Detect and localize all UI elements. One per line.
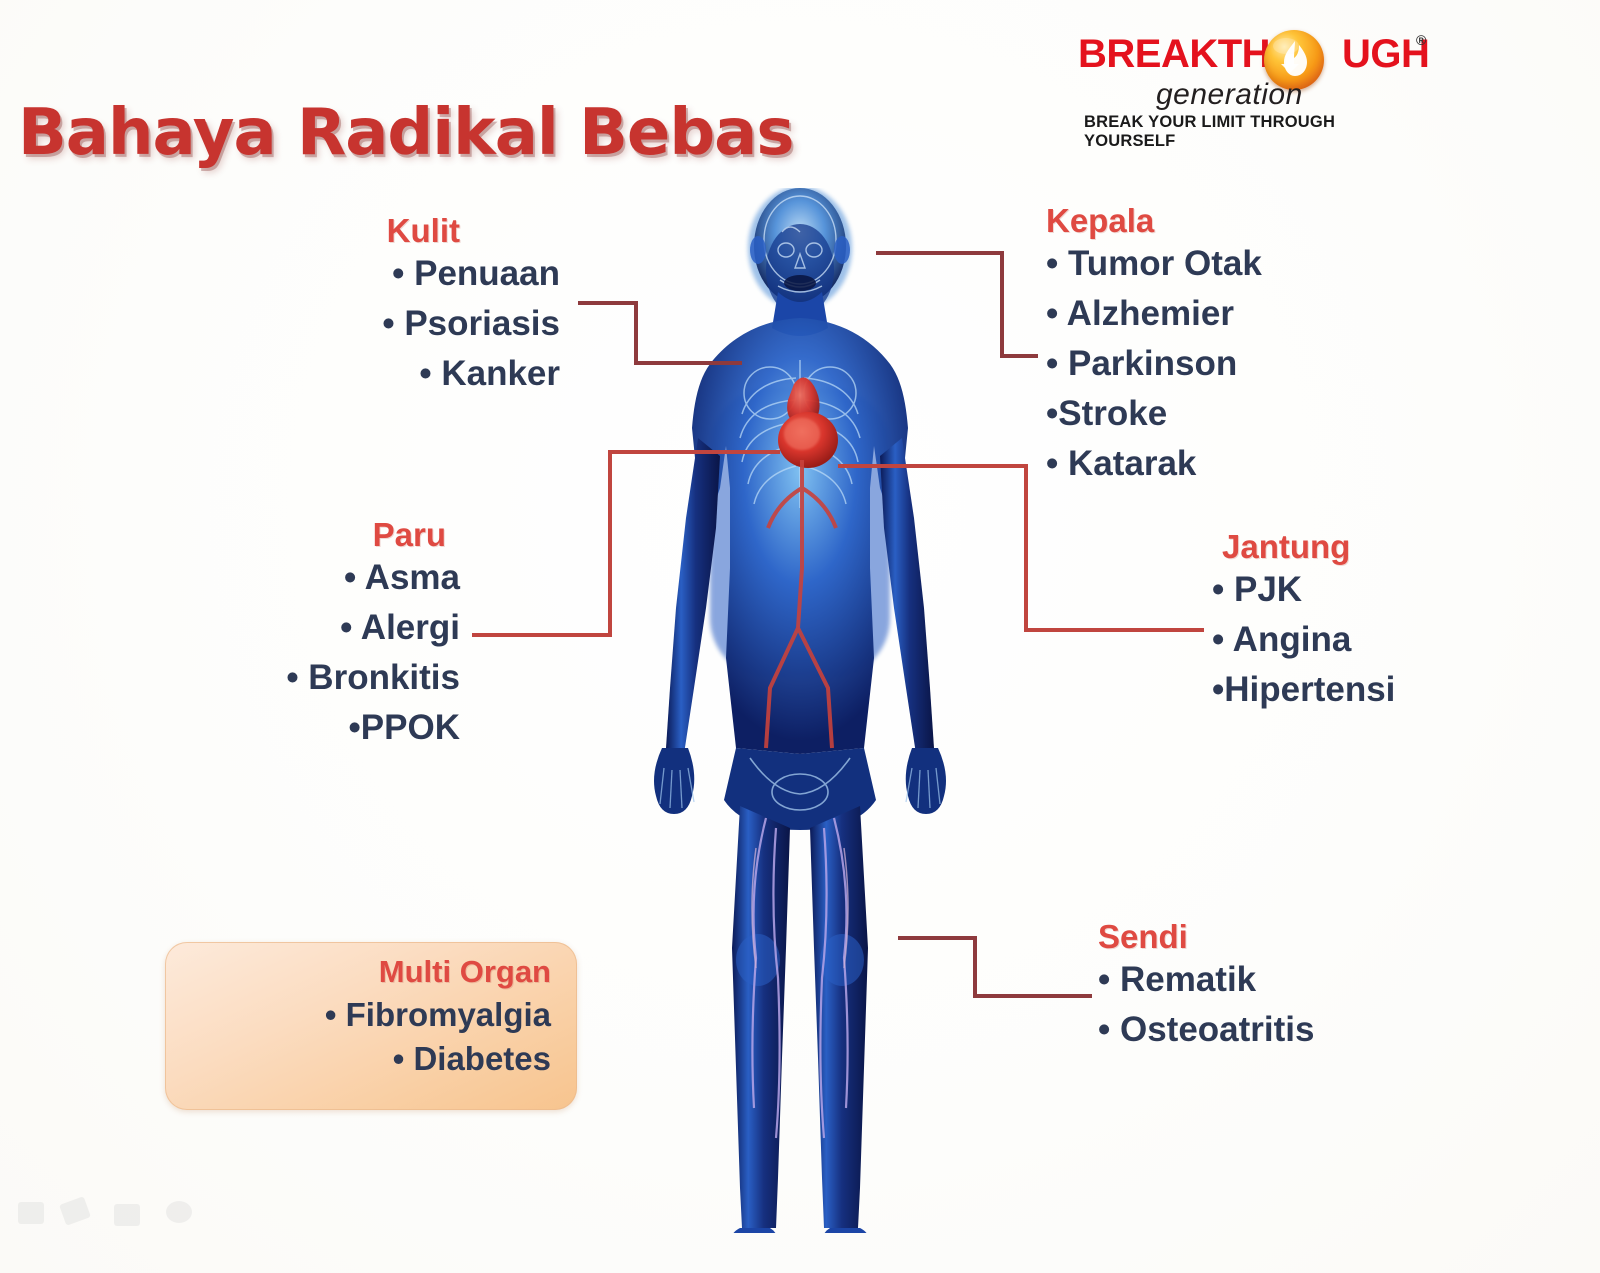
list-item: • Osteoatritis	[1098, 1005, 1498, 1055]
list-item: • Katarak	[1046, 439, 1466, 489]
page-title: Bahaya Radikal Bebas	[18, 96, 793, 170]
logo-wordmark: BREAKTHR UGH ®	[1070, 30, 1430, 82]
list-item: • Alzhemier	[1046, 289, 1466, 339]
group-header-paru: Paru	[150, 518, 460, 553]
watermark-shape	[114, 1204, 140, 1226]
group-list-multi-organ: • Fibromyalgia • Diabetes	[165, 993, 551, 1083]
label-group-kepala: Kepala • Tumor Otak • Alzhemier • Parkin…	[1046, 204, 1466, 489]
registered-trademark-icon: ®	[1416, 32, 1426, 48]
label-group-jantung: Jantung • PJK • Angina •Hipertensi	[1212, 530, 1542, 715]
list-item: • PJK	[1212, 565, 1542, 615]
list-item: • Angina	[1212, 615, 1542, 665]
faint-watermark-icons	[18, 1196, 238, 1236]
logo-subtitle: generation	[1156, 78, 1303, 112]
list-item: • Asma	[150, 553, 460, 603]
group-list-paru: • Asma • Alergi • Bronkitis •PPOK	[150, 553, 460, 753]
watermark-shape	[18, 1202, 44, 1224]
logo-tagline: BREAK YOUR LIMIT THROUGH YOURSELF	[1084, 113, 1430, 151]
list-item: • Rematik	[1098, 955, 1498, 1005]
list-item: • Alergi	[150, 603, 460, 653]
list-item: •Hipertensi	[1212, 665, 1542, 715]
watermark-shape	[166, 1201, 192, 1223]
list-item: • Fibromyalgia	[165, 993, 551, 1038]
group-header-sendi: Sendi	[1098, 920, 1498, 955]
infographic-canvas: BREAKTHR UGH ® generation BREAK YOUR LIM…	[0, 0, 1600, 1273]
list-item: • Tumor Otak	[1046, 239, 1466, 289]
list-item: • Bronkitis	[150, 653, 460, 703]
group-header-kulit: Kulit	[120, 214, 560, 249]
list-item: • Parkinson	[1046, 339, 1466, 389]
group-header-multi-organ: Multi Organ	[165, 956, 551, 989]
group-list-kulit: • Penuaan • Psoriasis • Kanker	[120, 249, 560, 399]
group-list-kepala: • Tumor Otak • Alzhemier • Parkinson •St…	[1046, 239, 1466, 489]
anatomical-x-ray-body	[590, 188, 1010, 1233]
label-group-sendi: Sendi • Rematik • Osteoatritis	[1098, 920, 1498, 1055]
list-item: •Stroke	[1046, 389, 1466, 439]
list-item: • Diabetes	[165, 1037, 551, 1082]
label-group-paru: Paru • Asma • Alergi • Bronkitis •PPOK	[150, 518, 460, 753]
brand-logo: BREAKTHR UGH ® generation BREAK YOUR LIM…	[1070, 30, 1430, 130]
group-header-kepala: Kepala	[1046, 204, 1466, 239]
group-list-jantung: • PJK • Angina •Hipertensi	[1212, 565, 1542, 715]
list-item: • Penuaan	[120, 249, 560, 299]
list-item: • Kanker	[120, 349, 560, 399]
list-item: • Psoriasis	[120, 299, 560, 349]
label-group-kulit: Kulit • Penuaan • Psoriasis • Kanker	[120, 214, 560, 399]
list-item: •PPOK	[150, 703, 460, 753]
group-list-sendi: • Rematik • Osteoatritis	[1098, 955, 1498, 1055]
watermark-shape	[59, 1196, 91, 1226]
multi-organ-callout-box: Multi Organ • Fibromyalgia • Diabetes	[165, 942, 577, 1110]
group-header-jantung: Jantung	[1212, 530, 1542, 565]
